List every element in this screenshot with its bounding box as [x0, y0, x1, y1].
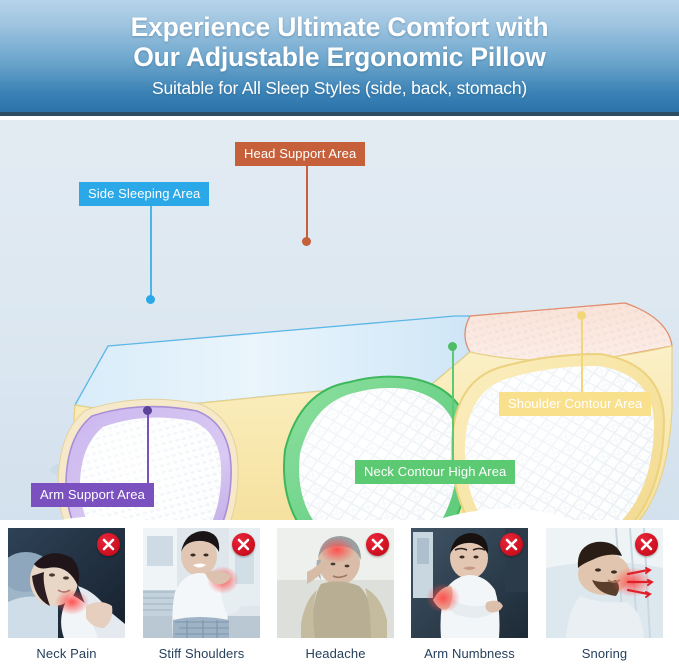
leader-side-sleeping: [150, 203, 152, 299]
header-banner: Experience Ultimate Comfort with Our Adj…: [0, 0, 679, 116]
problem-caption: Headache: [277, 638, 394, 661]
problem-card[interactable]: Stiff Shoulders: [143, 528, 260, 661]
problem-photo-stiff-shoulders: [143, 528, 260, 638]
close-x-icon: [97, 533, 120, 556]
problem-card[interactable]: Neck Pain: [8, 528, 125, 661]
close-x-icon: [500, 533, 523, 556]
problem-card[interactable]: Snoring: [546, 528, 663, 661]
pillow-diagram: Head Support Area Side Sleeping Area Sho…: [0, 120, 679, 520]
title-line-1: Experience Ultimate Comfort with: [131, 12, 549, 42]
problem-caption: Stiff Shoulders: [143, 638, 260, 661]
problem-card[interactable]: Arm Numbness: [411, 528, 528, 661]
callout-shoulder-contour[interactable]: Shoulder Contour Area: [499, 392, 651, 416]
problem-card[interactable]: Headache: [277, 528, 394, 661]
leader-dot-shoulder-contour: [577, 311, 586, 320]
problem-caption: Arm Numbness: [411, 638, 528, 661]
leader-dot-head-support: [302, 237, 311, 246]
pillow-illustration: [0, 120, 679, 520]
leader-dot-arm-support: [143, 406, 152, 415]
problem-cards-row: Neck Pain: [0, 520, 679, 667]
leader-shoulder-contour: [581, 316, 583, 393]
close-x-icon: [366, 533, 389, 556]
page-title: Experience Ultimate Comfort with Our Adj…: [0, 0, 679, 72]
problem-caption: Snoring: [546, 638, 663, 661]
leader-dot-side-sleeping: [146, 295, 155, 304]
problem-photo-neck-pain: [8, 528, 125, 638]
close-x-icon: [635, 533, 658, 556]
leader-dot-neck-contour: [448, 342, 457, 351]
close-x-icon: [232, 533, 255, 556]
page-subtitle: Suitable for All Sleep Styles (side, bac…: [0, 72, 679, 99]
problem-photo-arm-numbness: [411, 528, 528, 638]
leader-neck-contour: [452, 347, 454, 461]
problem-photo-snoring: [546, 528, 663, 638]
callout-side-sleeping[interactable]: Side Sleeping Area: [79, 182, 209, 206]
problem-photo-headache: [277, 528, 394, 638]
problem-caption: Neck Pain: [8, 638, 125, 661]
leader-head-support: [306, 165, 308, 241]
title-line-2: Our Adjustable Ergonomic Pillow: [133, 42, 545, 72]
callout-head-support[interactable]: Head Support Area: [235, 142, 365, 166]
